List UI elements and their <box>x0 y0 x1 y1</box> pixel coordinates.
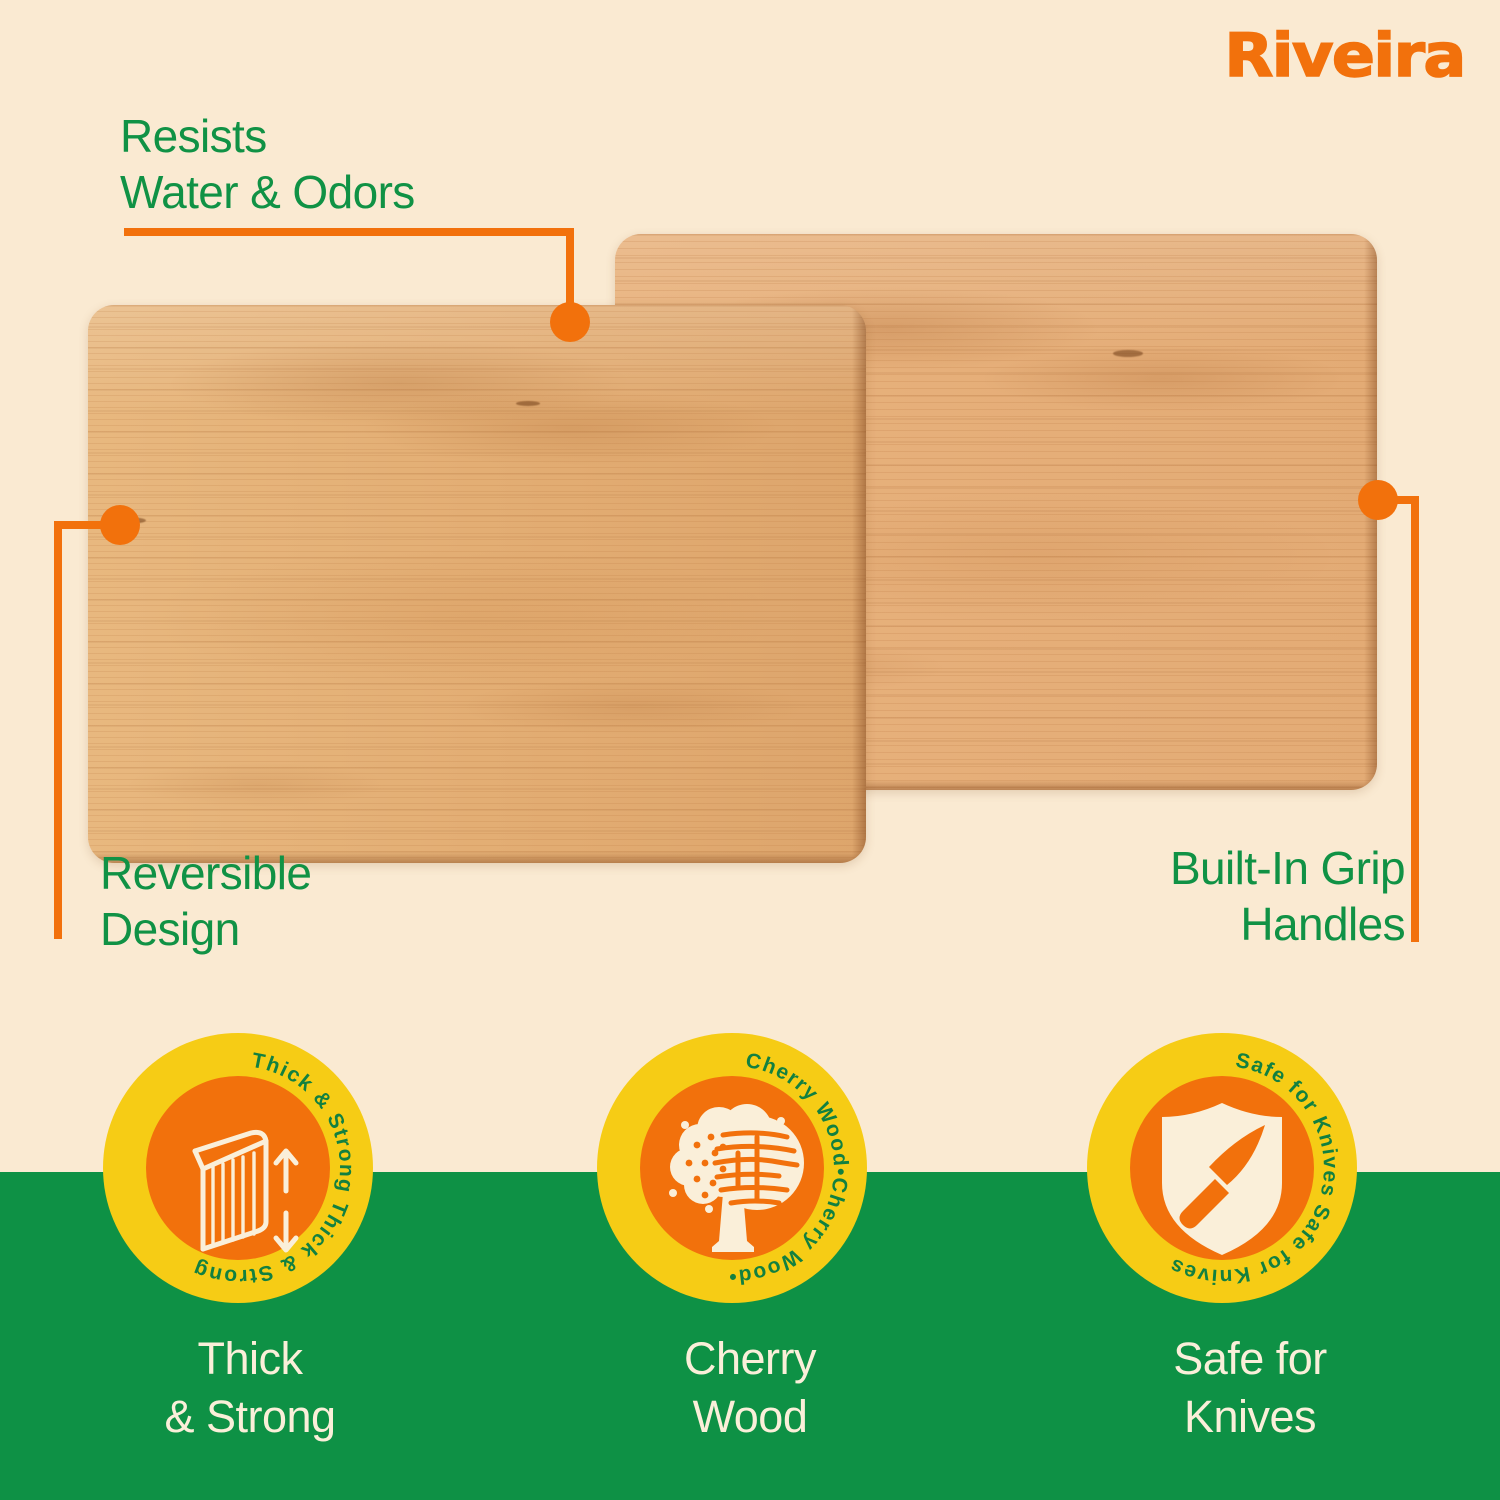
badge-inner-circle <box>146 1076 330 1260</box>
feature-label-reversible-design: Reversible Design <box>100 845 311 957</box>
product-feature-infographic: Riveira Resists Water & Odors Reversible… <box>0 0 1500 1500</box>
caption-thick-and-strong: Thick & Strong <box>0 1330 500 1470</box>
badge-cherry-wood: Cherry Wood•Cherry Wood• <box>597 1033 867 1303</box>
wood-grain-texture <box>88 305 866 863</box>
badge-row: Thick & Strong Thick & Strong <box>0 1020 1500 1320</box>
badge-thick-and-strong: Thick & Strong Thick & Strong <box>103 1033 373 1303</box>
wood-knot <box>1113 350 1143 357</box>
badge-captions: Thick & Strong Cherry Wood Safe for Kniv… <box>0 1330 1500 1470</box>
wood-knot <box>104 517 146 524</box>
feature-label-built-in-grip-handles: Built-In Grip Handles <box>1170 840 1405 952</box>
feature-label-resists-water-odors: Resists Water & Odors <box>120 108 415 220</box>
caption-cherry-wood: Cherry Wood <box>500 1330 1000 1470</box>
wood-knot <box>516 401 540 406</box>
board-right-edge <box>1364 234 1377 790</box>
brand-logo: Riveira <box>1225 26 1465 86</box>
board-right-edge <box>852 305 866 863</box>
caption-safe-for-knives: Safe for Knives <box>1000 1330 1500 1470</box>
badge-safe-for-knives: Safe for Knives Safe for Knives <box>1087 1033 1357 1303</box>
front-cutting-board <box>88 305 866 863</box>
